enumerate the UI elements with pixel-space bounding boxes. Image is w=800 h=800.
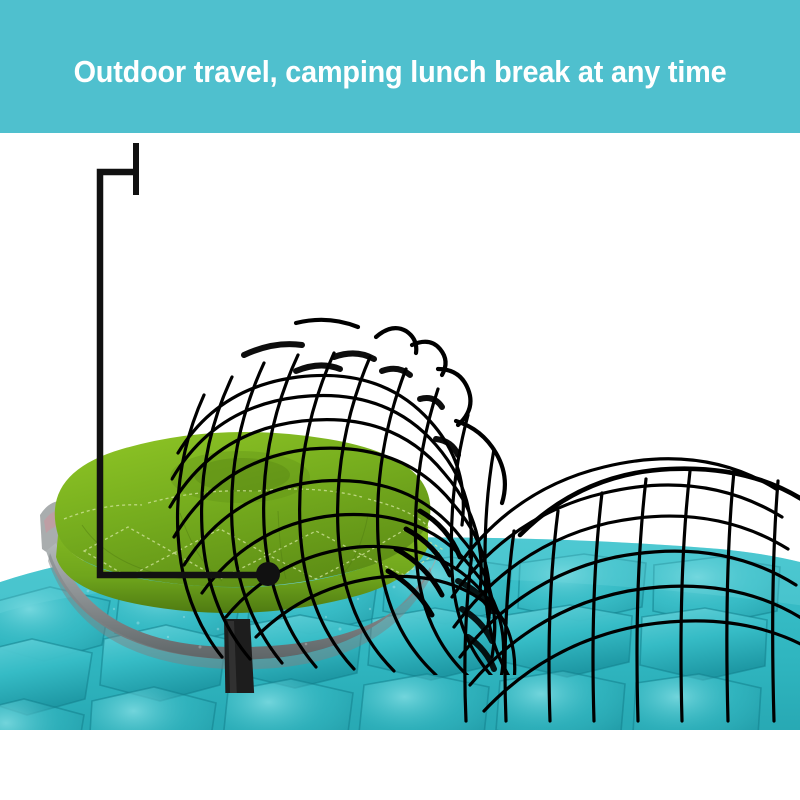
product-marketing-image: Outdoor travel, camping lunch break at a… [0,0,800,800]
header-banner: Outdoor travel, camping lunch break at a… [0,0,800,133]
wireframe-figure [120,253,800,723]
product-photo [0,133,800,800]
floor-shadow [0,730,800,800]
page-title: Outdoor travel, camping lunch break at a… [74,54,727,90]
